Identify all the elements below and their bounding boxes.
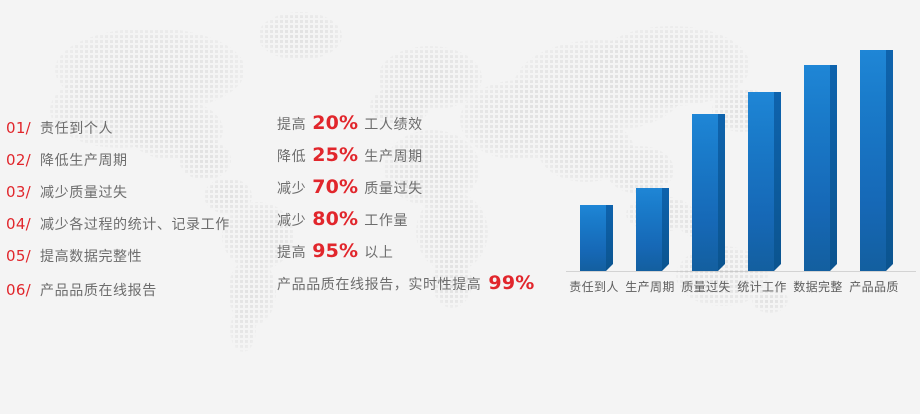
list-item: 04/ 减少各过程的统计、记录工作 (6, 208, 256, 240)
chart-category-label: 产品品质 (846, 278, 902, 295)
metric-item: 降低 25% 生产周期 (277, 144, 567, 176)
list-item-index: 06/ (6, 281, 31, 299)
list-item-label: 产品品质在线报告 (40, 280, 157, 300)
bar-front-face (692, 114, 718, 271)
metric-item: 减少 80% 工作量 (277, 208, 567, 240)
metric-prefix: 减少 (277, 178, 306, 198)
infographic-canvas: 01/ 责任到个人 02/ 降低生产周期 03/ 减少质量过失 04/ 减少各过… (0, 0, 920, 414)
chart-category-label: 统计工作 (734, 278, 790, 295)
list-item: 05/ 提高数据完整性 (6, 240, 256, 272)
metric-suffix: 工作量 (364, 210, 408, 230)
bar-front-face (580, 205, 606, 271)
list-item-index: 03/ (6, 183, 31, 201)
metric-value: 80% (312, 208, 358, 230)
metric-suffix: 生产周期 (364, 146, 422, 166)
metric-item: 产品品质在线报告，实时性提高 99% (277, 272, 567, 308)
list-item-label: 降低生产周期 (40, 150, 128, 170)
metric-prefix: 降低 (277, 146, 306, 166)
metric-value: 20% (312, 112, 358, 134)
bar-front-face (860, 50, 886, 271)
chart-bar (860, 50, 886, 271)
chart-axis-line (566, 271, 916, 272)
bar-front-face (748, 92, 774, 271)
metric-value: 99% (488, 272, 534, 294)
bar-side-face (718, 114, 725, 271)
bar-side-face (774, 92, 781, 271)
chart-bar (692, 114, 718, 271)
chart-bar (804, 65, 830, 271)
list-item-index: 01/ (6, 119, 31, 137)
metric-prefix: 产品品质在线报告，实时性提高 (277, 274, 481, 294)
bar-front-face (636, 188, 662, 271)
bar-side-face (830, 65, 837, 271)
list-item-label: 减少质量过失 (40, 182, 128, 202)
list-item: 06/ 产品品质在线报告 (6, 272, 256, 308)
chart-category-label: 数据完整 (790, 278, 846, 295)
chart-category-label: 生产周期 (622, 278, 678, 295)
bar-side-face (662, 188, 669, 271)
chart-bar (636, 188, 662, 271)
benefits-list: 01/ 责任到个人 02/ 降低生产周期 03/ 减少质量过失 04/ 减少各过… (6, 112, 256, 308)
list-item: 01/ 责任到个人 (6, 112, 256, 144)
list-item: 03/ 减少质量过失 (6, 176, 256, 208)
list-item-label: 提高数据完整性 (40, 246, 142, 266)
metrics-list: 提高 20% 工人绩效 降低 25% 生产周期 减少 70% 质量过失 减少 8… (277, 112, 567, 308)
metric-item: 减少 70% 质量过失 (277, 176, 567, 208)
metric-value: 95% (312, 240, 358, 262)
chart-category-label: 质量过失 (678, 278, 734, 295)
bar-side-face (606, 205, 613, 271)
metric-suffix: 工人绩效 (364, 114, 422, 134)
chart-bar (748, 92, 774, 271)
metric-prefix: 提高 (277, 242, 306, 262)
chart-category-labels: 责任到人 生产周期 质量过失 统计工作 数据完整 产品品质 (566, 278, 916, 295)
list-item-label: 责任到个人 (40, 118, 113, 138)
metric-prefix: 提高 (277, 114, 306, 134)
list-item-index: 05/ (6, 247, 31, 265)
metric-value: 25% (312, 144, 358, 166)
bar-side-face (886, 50, 893, 271)
metric-suffix: 质量过失 (364, 178, 422, 198)
chart-category-label: 责任到人 (566, 278, 622, 295)
bar-front-face (804, 65, 830, 271)
list-item-index: 04/ (6, 215, 31, 233)
bar-chart: 责任到人 生产周期 质量过失 统计工作 数据完整 产品品质 (566, 26, 916, 316)
metric-suffix: 以上 (364, 242, 393, 262)
metric-item: 提高 20% 工人绩效 (277, 112, 567, 144)
chart-plot-area (566, 26, 916, 271)
chart-bar (580, 205, 606, 271)
list-item-index: 02/ (6, 151, 31, 169)
metric-value: 70% (312, 176, 358, 198)
metric-prefix: 减少 (277, 210, 306, 230)
list-item: 02/ 降低生产周期 (6, 144, 256, 176)
metric-item: 提高 95% 以上 (277, 240, 567, 272)
list-item-label: 减少各过程的统计、记录工作 (40, 214, 230, 234)
